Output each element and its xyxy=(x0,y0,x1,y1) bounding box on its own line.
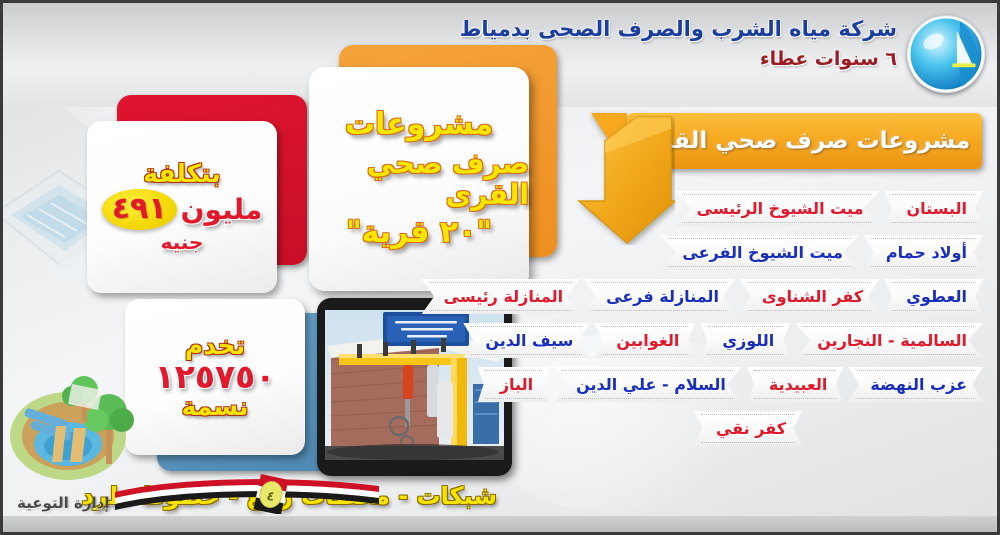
cost-card-front: بتكلفة مليون ٤٩١ جنيه xyxy=(87,121,277,293)
cost-amount-row: مليون ٤٩١ xyxy=(102,189,263,230)
village-row: عزب النهضةالعبيديةالسلام - علي الدينالبا… xyxy=(513,367,983,402)
village-row: أولاد حمامميت الشيوخ الفرعى xyxy=(513,235,983,270)
village-name: ميت الشيوخ الرئيسى xyxy=(697,199,864,218)
village-name: المنازلة فرعى xyxy=(606,287,719,306)
footer-band xyxy=(3,516,1000,532)
village-name: العبيدية xyxy=(769,375,828,394)
cost-card: بتكلفة مليون ٤٩١ جنيه xyxy=(87,95,307,295)
village-chevron[interactable]: عزب النهضة xyxy=(848,367,983,402)
cost-label: بتكلفة xyxy=(143,160,221,188)
serve-label: تخدم xyxy=(185,333,245,359)
village-chevron[interactable]: المنازلة رئيسى xyxy=(422,279,579,314)
village-name: الباز xyxy=(500,375,533,394)
village-chevron[interactable]: ميت الشيوخ الرئيسى xyxy=(675,191,880,226)
village-chevron[interactable]: السلام - علي الدين xyxy=(554,367,742,402)
serve-number: ١٢٥٧٥٠ xyxy=(155,360,276,395)
village-chevron[interactable]: الباز xyxy=(478,367,549,402)
village-list: البستانميت الشيوخ الرئيسىأولاد حمامميت ا… xyxy=(513,191,983,455)
water-globe-logo-icon xyxy=(907,15,985,93)
village-name: العطوي xyxy=(906,287,967,306)
village-name: اللوزي xyxy=(722,331,774,350)
section-banner: مشروعات صرف صحي القرى xyxy=(627,113,982,169)
village-chevron[interactable]: سيف الدين xyxy=(463,323,589,358)
village-name: أولاد حمام xyxy=(886,243,967,262)
village-chevron[interactable]: المنازلة فرعى xyxy=(584,279,735,314)
banner-body: مشروعات صرف صحي القرى xyxy=(627,113,982,169)
serve-unit: نسمة xyxy=(182,394,249,420)
village-chevron[interactable]: ميت الشيوخ الفرعى xyxy=(660,235,858,270)
village-row: العطويكفر الشناوىالمنازلة فرعىالمنازلة ر… xyxy=(513,279,983,314)
village-name: كفر الشناوى xyxy=(762,287,863,306)
main-card-line-1: مشروعات xyxy=(345,108,493,142)
cost-unit: مليون xyxy=(181,193,263,226)
village-chevron[interactable]: العطوي xyxy=(884,279,983,314)
village-chevron[interactable]: البستان xyxy=(885,191,984,226)
village-name: سيف الدين xyxy=(485,331,573,350)
main-card-line-2: صرف صحي القرى xyxy=(309,148,529,211)
village-name: كفر نقي xyxy=(716,419,786,438)
village-chevron[interactable]: العبيدية xyxy=(747,367,844,402)
village-row: السالمية - النجاريناللوزيالغوابينسيف الد… xyxy=(513,323,983,358)
village-chevron[interactable]: السالمية - النجارين xyxy=(795,323,983,358)
village-name: عزب النهضة xyxy=(870,375,967,394)
banner-title: مشروعات صرف صحي القرى xyxy=(639,128,971,154)
cost-amount: ٤٩١ xyxy=(112,191,167,226)
main-card-front: مشروعات صرف صحي القرى "٢٠ قرية" xyxy=(309,67,529,291)
department-label: إدارة التوعية xyxy=(17,494,109,512)
village-name: المنازلة رئيسى xyxy=(444,287,563,306)
village-row: كفر نقي xyxy=(513,411,983,446)
village-name: الغوابين xyxy=(616,331,679,350)
egypt-flag-ribbon-icon: ٤ xyxy=(113,470,383,514)
village-chevron[interactable]: كفر نقي xyxy=(694,411,802,446)
village-chevron[interactable]: اللوزي xyxy=(700,323,790,358)
village-name: السلام - علي الدين xyxy=(576,375,726,394)
cost-currency: جنيه xyxy=(161,230,204,254)
village-chevron[interactable]: كفر الشناوى xyxy=(740,279,879,314)
village-chevron[interactable]: أولاد حمام xyxy=(864,235,983,270)
village-name: ميت الشيوخ الفرعى xyxy=(682,243,842,262)
main-card-line-3: "٢٠ قرية" xyxy=(346,216,492,250)
cost-amount-badge: ٤٩١ xyxy=(102,189,177,230)
village-row: البستانميت الشيوخ الرئيسى xyxy=(513,191,983,226)
village-name: السالمية - النجارين xyxy=(817,331,967,350)
company-title: شركة مياه الشرب والصرف الصحى بدمياط xyxy=(377,17,897,42)
serve-card-front: تخدم ١٢٥٧٥٠ نسمة xyxy=(125,299,305,455)
serve-card: تخدم ١٢٥٧٥٠ نسمة xyxy=(123,299,333,474)
village-chevron[interactable]: الغوابين xyxy=(594,323,695,358)
village-name: البستان xyxy=(907,199,968,218)
infographic-canvas: شركة مياه الشرب والصرف الصحى بدمياط ٦ سن… xyxy=(0,0,1000,535)
